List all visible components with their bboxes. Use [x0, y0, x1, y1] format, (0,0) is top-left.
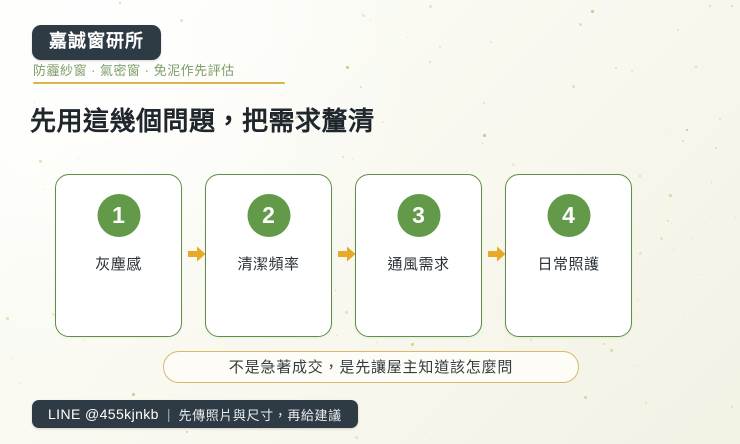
step-card-4[interactable]: 4 日常照護 — [505, 174, 632, 337]
headline-label: 先用這幾個問題，把需求釐清 — [30, 106, 375, 136]
step-card-3[interactable]: 3 通風需求 — [355, 174, 482, 337]
step-card-2[interactable]: 2 清潔頻率 — [205, 174, 332, 337]
line-id-label: LINE @455kjnkb — [48, 406, 159, 422]
step-item-2[interactable]: 2 清潔頻率 — [205, 174, 332, 337]
step-item-3[interactable]: 3 通風需求 — [355, 174, 482, 337]
gold-underline-divider — [33, 82, 285, 84]
step-flow: 1 灰塵感 2 清潔頻率 3 通風需求 — [0, 174, 740, 338]
step-label-4: 日常照護 — [506, 255, 631, 275]
slide-canvas: 嘉誠窗研所 防霾紗窗 · 氣密窗 · 免泥作先評估 先用這幾個問題，把需求釐清 … — [0, 0, 740, 444]
step-label-1: 灰塵感 — [56, 255, 181, 275]
step-item-4[interactable]: 4 日常照護 — [505, 174, 632, 337]
step-label-3: 通風需求 — [356, 255, 481, 275]
brand-tagline: 防霾紗窗 · 氣密窗 · 免泥作先評估 — [33, 63, 283, 84]
step-label-2: 清潔頻率 — [206, 255, 331, 275]
step-number-badge-2: 2 — [247, 194, 290, 237]
note-label: 不是急著成交，是先讓屋主知道該怎麼問 — [229, 360, 513, 375]
brand-badge: 嘉誠窗研所 — [32, 25, 161, 60]
footer-contact-bar[interactable]: LINE @455kjnkb | 先傳照片與尺寸，再給建議 — [32, 400, 358, 428]
step-number-badge-3: 3 — [397, 194, 440, 237]
step-card-1[interactable]: 1 灰塵感 — [55, 174, 182, 337]
footer-separator: | — [167, 407, 171, 421]
brand-name-label: 嘉誠窗研所 — [49, 31, 144, 51]
step-number-badge-1: 1 — [97, 194, 140, 237]
footer-note-label: 先傳照片與尺寸，再給建議 — [179, 405, 342, 424]
step-item-1[interactable]: 1 灰塵感 — [55, 174, 182, 337]
page-title: 先用這幾個問題，把需求釐清 — [30, 105, 710, 138]
tagline-label: 防霾紗窗 · 氣密窗 · 免泥作先評估 — [33, 63, 283, 80]
note-callout: 不是急著成交，是先讓屋主知道該怎麼問 — [163, 351, 579, 383]
step-number-badge-4: 4 — [547, 194, 590, 237]
